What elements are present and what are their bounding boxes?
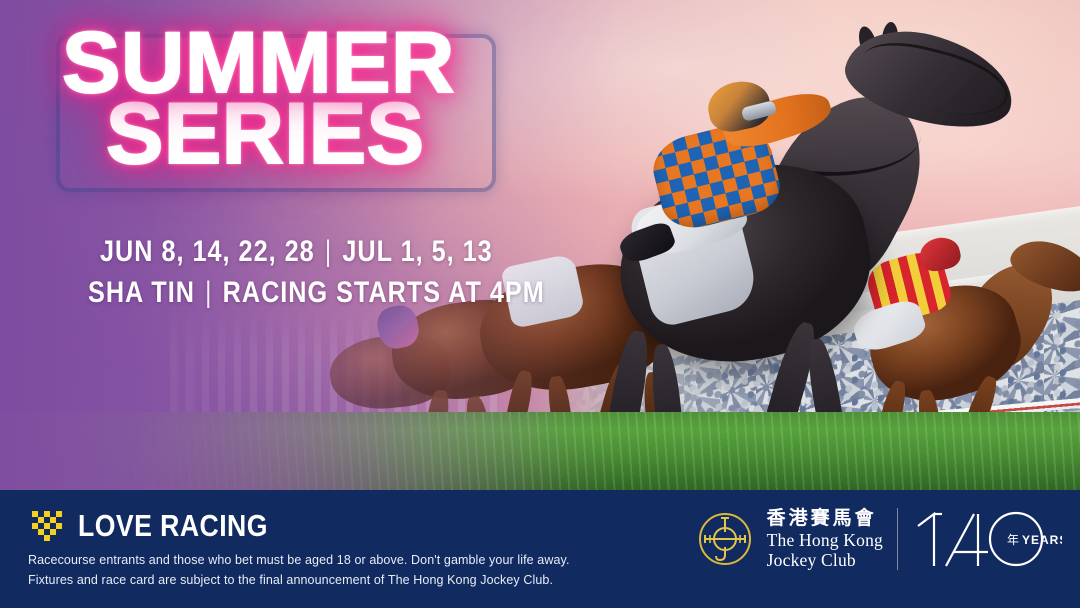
lead-jockey <box>630 60 820 250</box>
hkjc-name-chinese: 香港賽馬會 <box>767 508 883 530</box>
love-racing-logo[interactable]: LOVE RACING <box>28 508 299 544</box>
hero-image: SUMMER SERIES JUN 8, 14, 22, 28|JUL 1, 5… <box>0 0 1080 490</box>
anniversary-unit-cn: 年 <box>1007 533 1019 547</box>
headline-line-1: SUMMER <box>62 24 592 103</box>
venue-separator: | <box>195 276 223 309</box>
dates-separator: | <box>315 235 343 268</box>
race-start-time: RACING STARTS AT 4PM <box>223 276 545 309</box>
hkjc-emblem-icon <box>697 511 753 567</box>
event-dates: JUN 8, 14, 22, 28|JUL 1, 5, 13 <box>100 232 604 273</box>
disclaimer: Racecourse entrants and those who bet mu… <box>28 550 570 591</box>
venue-and-time: SHA TIN|RACING STARTS AT 4PM <box>88 273 602 314</box>
checkered-heart-icon <box>28 509 68 543</box>
anniversary-mark: 年 YEARS <box>912 508 1062 570</box>
hkjc-name-english-line-2: Jockey Club <box>767 550 883 570</box>
love-racing-label: LOVE RACING <box>78 508 268 544</box>
footer-bar: LOVE RACING Racecourse entrants and thos… <box>0 490 1080 608</box>
headline: SUMMER SERIES <box>62 24 582 174</box>
disclaimer-line-2: Fixtures and race card are subject to th… <box>28 570 570 590</box>
summer-series-banner: SUMMER SERIES JUN 8, 14, 22, 28|JUL 1, 5… <box>0 0 1080 608</box>
divider <box>897 508 898 570</box>
hkjc-name-english-line-1: The Hong Kong <box>767 530 883 550</box>
dates-june: JUN 8, 14, 22, 28 <box>100 235 315 268</box>
hkjc-branding[interactable]: 香港賽馬會 The Hong Kong Jockey Club 年 <box>697 508 1062 571</box>
venue-name: SHA TIN <box>88 276 195 309</box>
disclaimer-line-1: Racecourse entrants and those who bet mu… <box>28 550 570 570</box>
dates-july: JUL 1, 5, 13 <box>342 235 492 268</box>
event-info: JUN 8, 14, 22, 28|JUL 1, 5, 13 SHA TIN|R… <box>100 232 700 313</box>
hkjc-name: 香港賽馬會 The Hong Kong Jockey Club <box>767 508 883 571</box>
anniversary-unit-en: YEARS <box>1022 533 1062 547</box>
